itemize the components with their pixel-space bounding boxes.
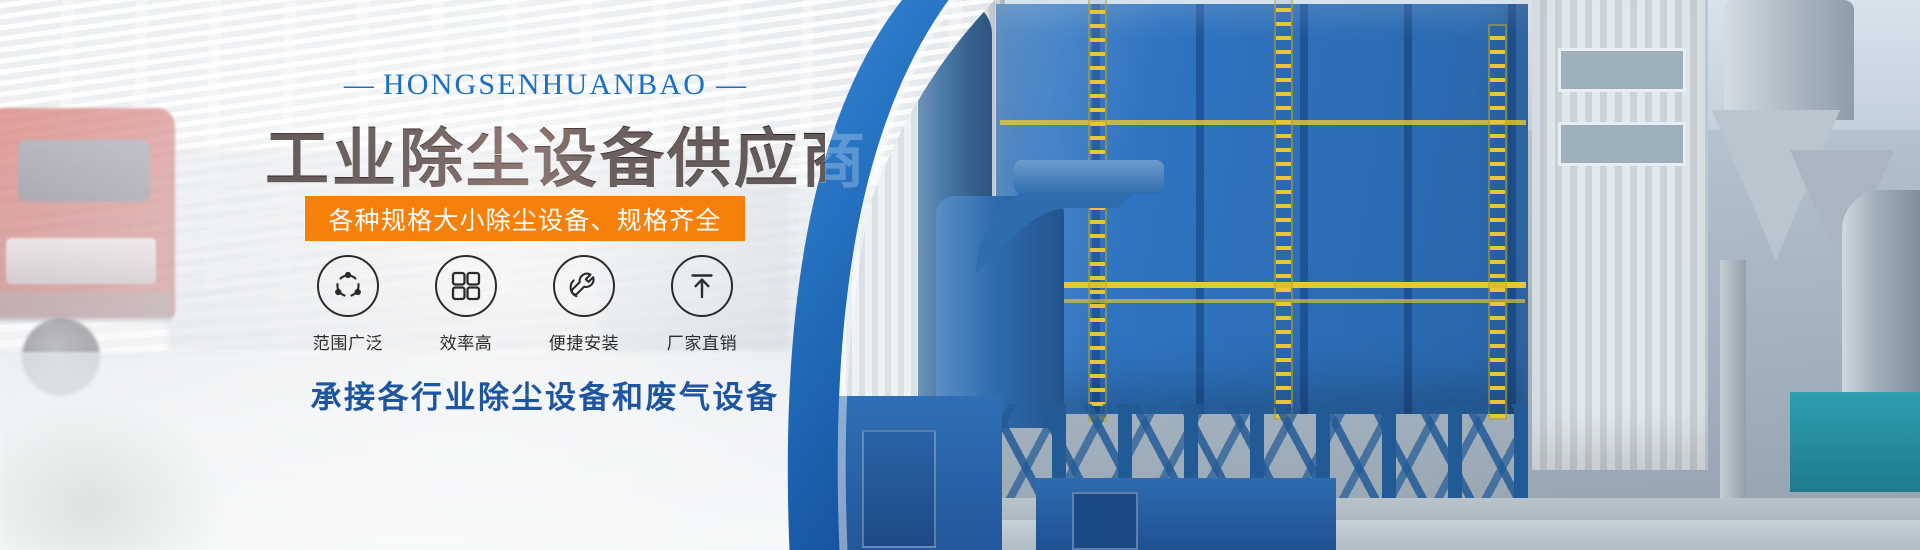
hero-content: —HONGSENHUANBAO— 工业除尘设备供应商 各种规格大小除尘设备、规格…: [0, 0, 1080, 550]
yellow-ladder-3: [1490, 26, 1505, 418]
eyebrow-dash-left: —: [335, 68, 383, 101]
feature-item-direct-sales[interactable]: 厂家直销: [654, 255, 750, 354]
feature-icon-circle: [435, 255, 497, 317]
feature-list: 范围广泛 效率高: [300, 255, 750, 355]
subtitle-banner-text: 各种规格大小除尘设备、规格齐全: [328, 201, 721, 237]
tagline: 承接各行业除尘设备和废气设备: [265, 372, 825, 417]
feature-icon-circle: [553, 255, 615, 317]
grey-building-window: [1558, 48, 1686, 92]
storage-tank: [1724, 0, 1854, 120]
hero-banner: —HONGSENHUANBAO— 工业除尘设备供应商 各种规格大小除尘设备、规格…: [0, 0, 1920, 550]
feature-item-efficiency[interactable]: 效率高: [418, 255, 514, 354]
feature-label: 便捷安装: [549, 329, 619, 354]
upload-arrow-icon: [686, 270, 718, 302]
eyebrow-text: HONGSENHUANBAO: [383, 68, 707, 101]
feature-icon-circle: [317, 255, 379, 317]
teal-structure: [1790, 392, 1920, 492]
brand-eyebrow: —HONGSENHUANBAO—: [265, 68, 825, 102]
subtitle-banner: 各种规格大小除尘设备、规格齐全: [305, 196, 745, 241]
feature-label: 效率高: [440, 329, 493, 354]
grid-four-squares-icon: [450, 270, 482, 302]
yellow-ladder-2: [1276, 0, 1291, 418]
vertical-pipe: [1720, 260, 1746, 510]
blue-base-block-door: [1072, 492, 1138, 550]
feature-icon-circle: [671, 255, 733, 317]
wrench-gear-icon: [567, 269, 601, 303]
grey-building-window-2: [1558, 122, 1686, 166]
page-title: 工业除尘设备供应商: [265, 108, 825, 200]
feature-label: 厂家直销: [667, 329, 737, 354]
eyebrow-dash-right: —: [707, 68, 755, 101]
feature-item-installation[interactable]: 便捷安装: [536, 255, 632, 354]
feature-label: 范围广泛: [313, 329, 383, 354]
feature-item-coverage[interactable]: 范围广泛: [300, 255, 396, 354]
network-nodes-icon: [331, 269, 365, 303]
